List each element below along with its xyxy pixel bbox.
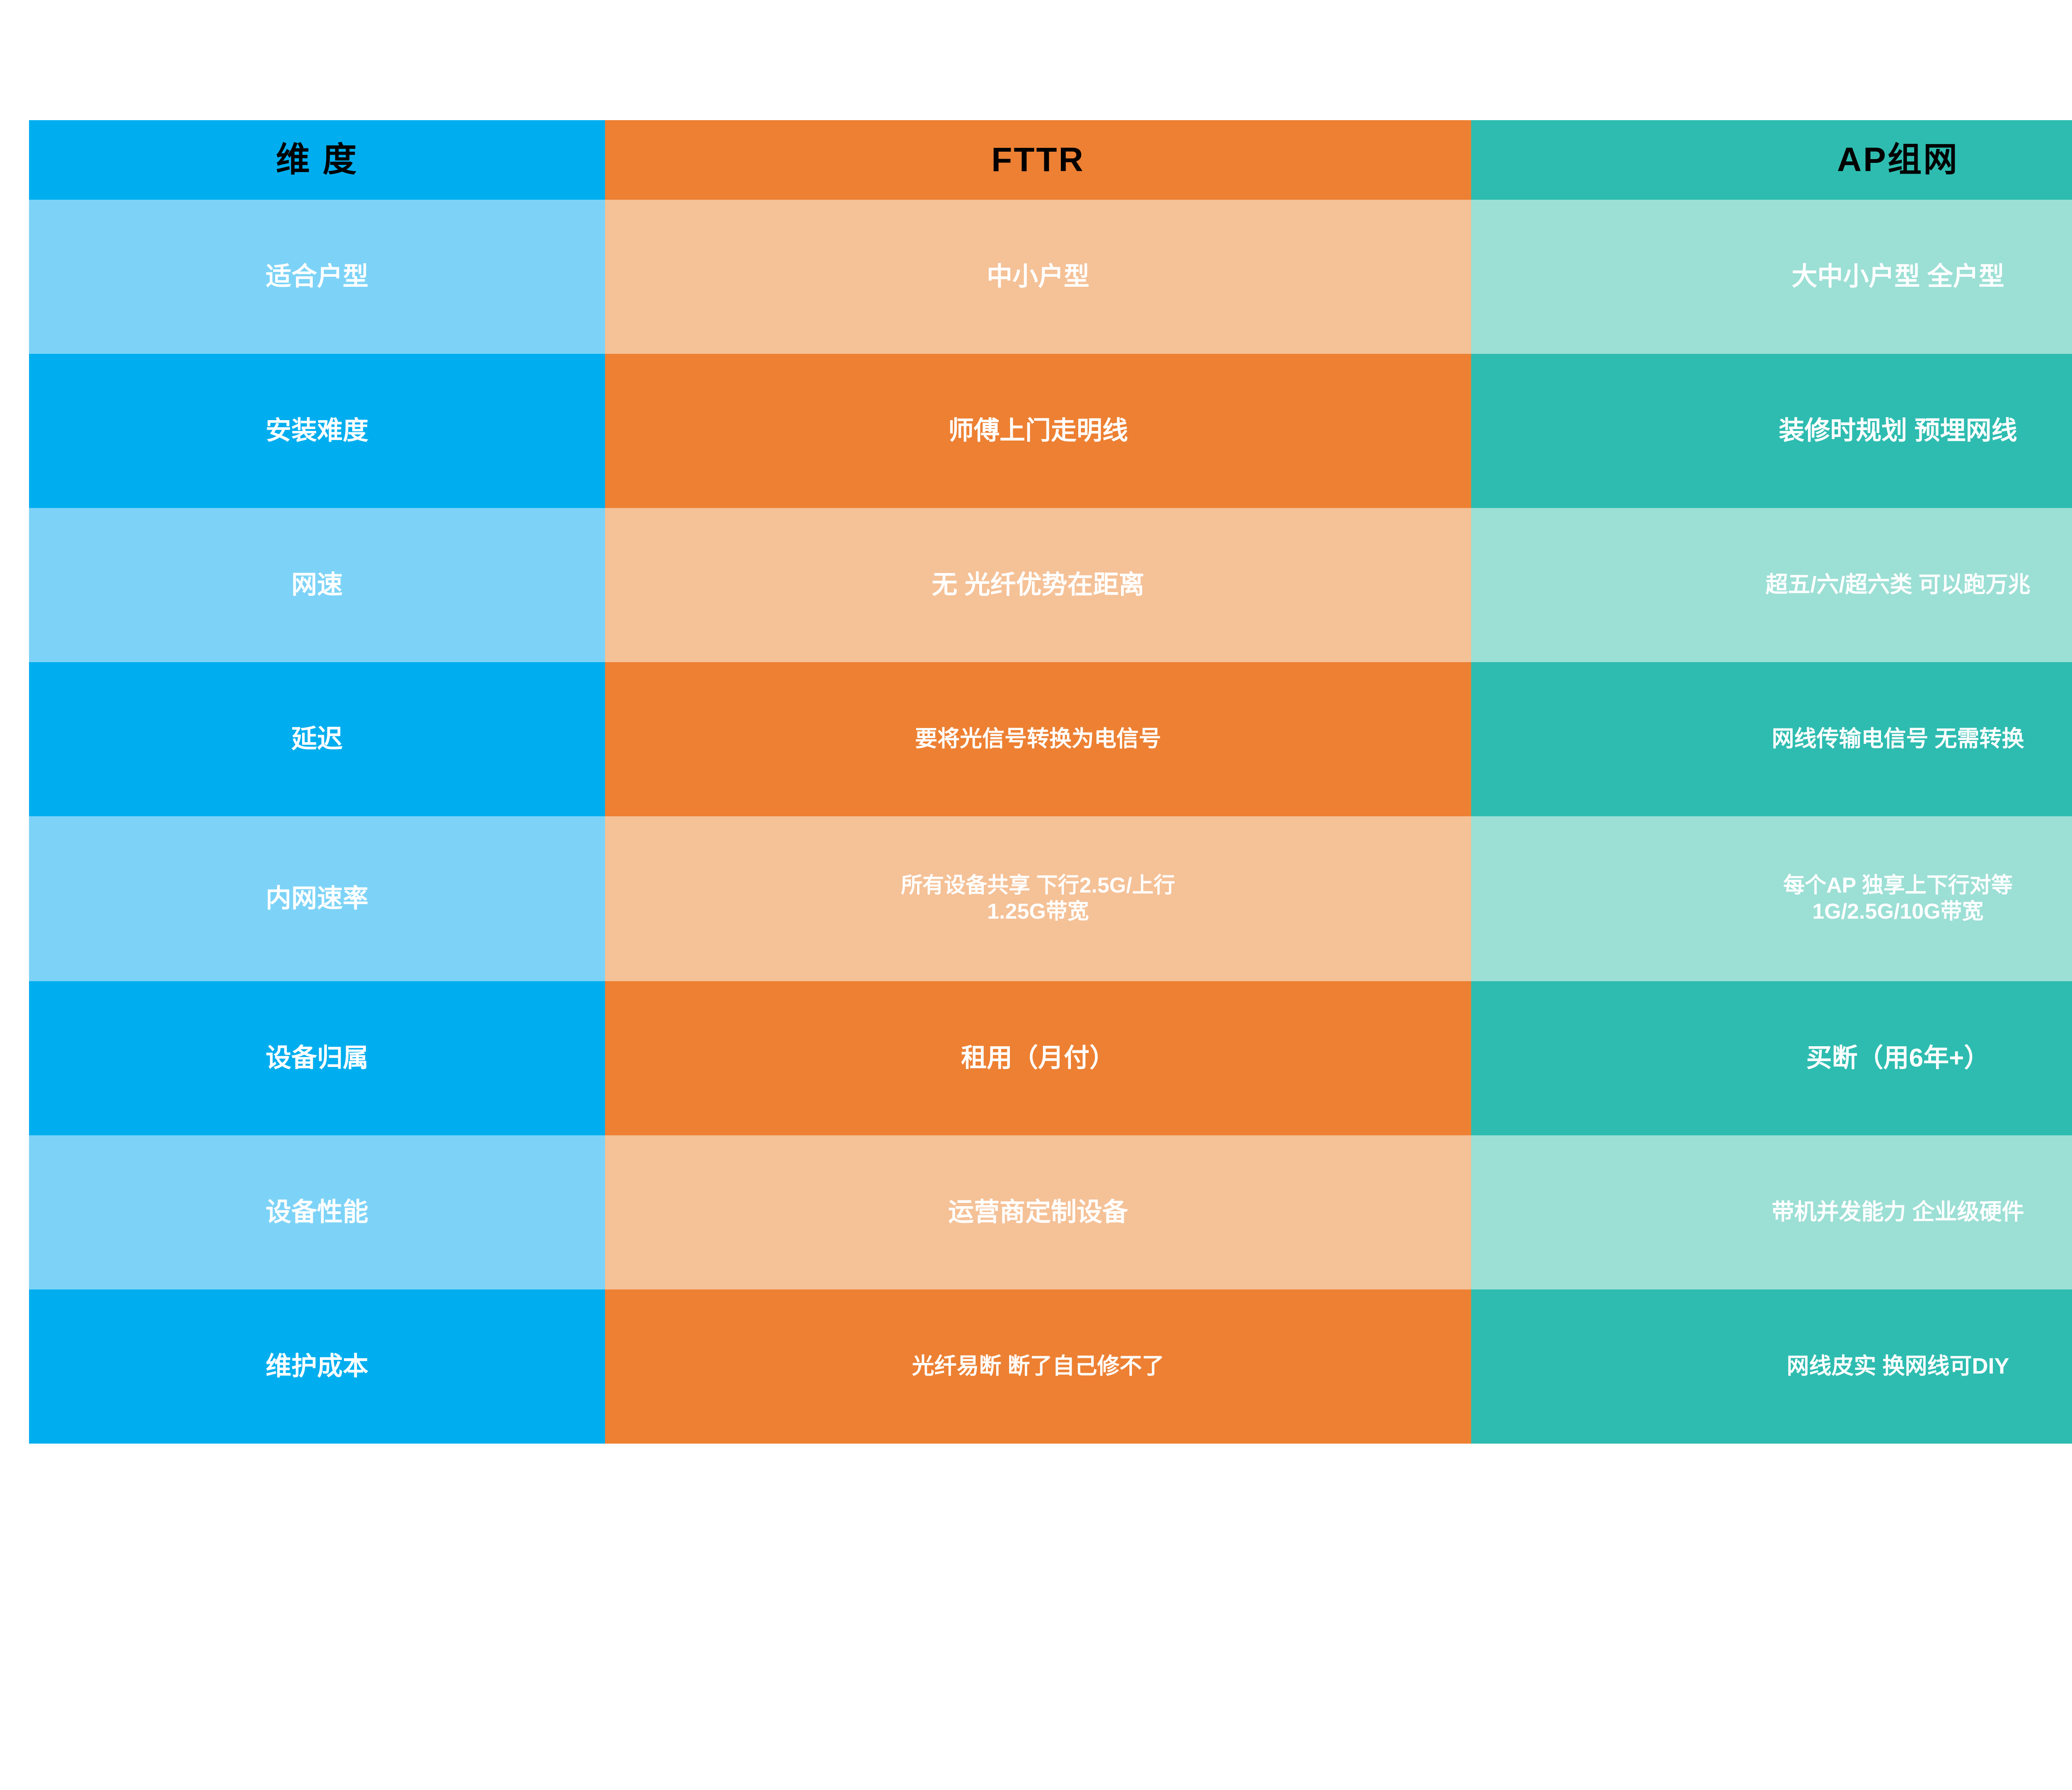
cell-ap: 网线传输电信号 无需转换 [1471,662,2072,816]
cell-dimension: 设备归属 [29,981,605,1135]
table-header-row: 维 度 FTTR AP组网 小白 解读 [29,120,2072,200]
cell-dimension: 维护成本 [29,1289,605,1444]
comparison-infographic: 维 度 FTTR AP组网 小白 解读 适合户型 中小户型 大中小户型 全户型 … [0,0,2072,1790]
cell-ap: 大中小户型 全户型 [1471,200,2072,354]
cell-ap: 每个AP 独享上下行对等 1G/2.5G/10G带宽 [1471,816,2072,981]
table-row: 维护成本 光纤易断 断了自己修不了 网线皮实 换网线可DIY 怕麻烦 直接选右边 [29,1289,2072,1444]
cell-dimension: 网速 [29,508,605,662]
cell-fttr: 所有设备共享 下行2.5G/上行 1.25G带宽 [605,816,1471,981]
cell-fttr: 师傅上门走明线 [605,354,1471,508]
cell-ap-line2: 1G/2.5G/10G带宽 [1783,899,2013,925]
header-cell-ap: AP组网 [1471,120,2072,200]
cell-fttr: 光纤易断 断了自己修不了 [605,1289,1471,1444]
cell-fttr-line1: 所有设备共享 下行2.5G/上行 [901,873,1175,899]
cell-ap: 买断（用6年+） [1471,981,2072,1135]
cell-ap-line1: 每个AP 独享上下行对等 [1783,873,2013,899]
cell-fttr: 中小户型 [605,200,1471,354]
cell-fttr-line2: 1.25G带宽 [901,899,1175,925]
header-cell-fttr: FTTR [605,120,1471,200]
header-cell-dimension: 维 度 [29,120,605,200]
cell-dimension: 设备性能 [29,1135,605,1289]
cell-ap: 超五/六/超六类 可以跑万兆 [1471,508,2072,662]
cell-dimension: 内网速率 [29,816,605,981]
cell-dimension: 安装难度 [29,354,605,508]
table-row: 安装难度 师傅上门走明线 装修时规划 预埋网线 旧房改造选左边 新房选右边 [29,354,2072,508]
table-row: 设备归属 租用（月付） 买断（用6年+） 自己的房子 长期使用右边更划算 [29,981,2072,1135]
table-row: 适合户型 中小户型 大中小户型 全户型 150㎡以上直接选右边 [29,200,2072,354]
cell-dimension: 适合户型 [29,200,605,354]
cell-dimension: 延迟 [29,662,605,816]
cell-fttr: 要将光信号转换为电信号 [605,662,1471,816]
cell-fttr: 无 光纤优势在距离 [605,508,1471,662]
table-row: 延迟 要将光信号转换为电信号 网线传输电信号 无需转换 要延迟低 直接选右边 [29,662,2072,816]
cell-fttr: 租用（月付） [605,981,1471,1135]
table-row: 网速 无 光纤优势在距离 超五/六/超六类 可以跑万兆 家用距离近 直接选右边 [29,508,2072,662]
table-row: 内网速率 所有设备共享 下行2.5G/上行 1.25G带宽 每个AP 独享上下行… [29,816,2072,981]
comparison-table: 维 度 FTTR AP组网 小白 解读 适合户型 中小户型 大中小户型 全户型 … [29,120,2072,1444]
cell-ap: 网线皮实 换网线可DIY [1471,1289,2072,1444]
cell-ap: 装修时规划 预埋网线 [1471,354,2072,508]
cell-ap: 带机并发能力 企业级硬件 [1471,1135,2072,1289]
cell-fttr: 运营商定制设备 [605,1135,1471,1289]
table-row: 设备性能 运营商定制设备 带机并发能力 企业级硬件 有智能家居 直接选右边 [29,1135,2072,1289]
